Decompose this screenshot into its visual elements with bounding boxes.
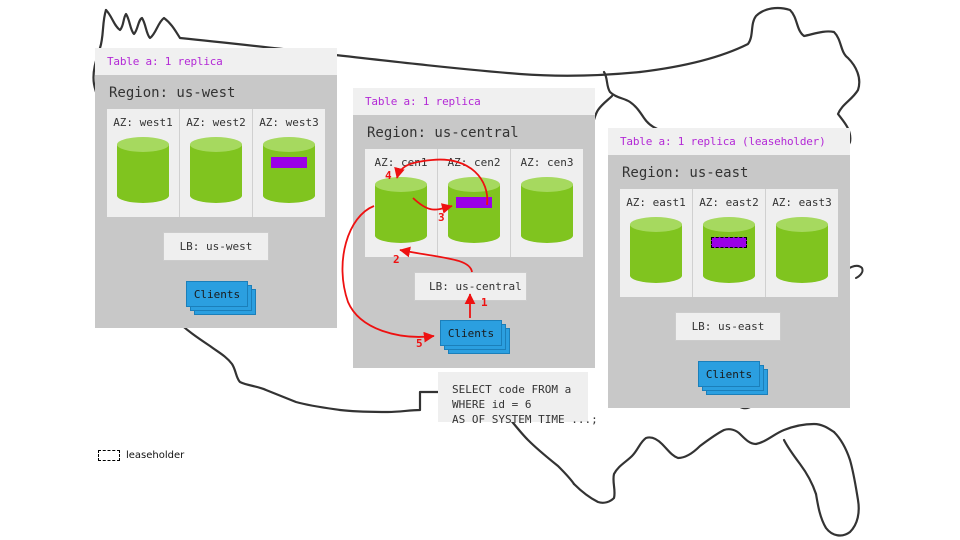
- node-cylinder-east1[interactable]: [630, 217, 682, 283]
- cylinder-top: [263, 137, 315, 152]
- load-balancer-us-west[interactable]: LB: us-west: [163, 232, 269, 261]
- cylinder-top: [190, 137, 242, 152]
- cylinder-top: [630, 217, 682, 232]
- region-header-us-west: Table a: 1 replica: [95, 48, 337, 75]
- region-title-us-central: Region: us-central: [353, 115, 595, 149]
- az-east2-label: AZ: east2: [693, 196, 765, 209]
- sql-query-box: SELECT code FROM a WHERE id = 6 AS OF SY…: [438, 372, 588, 422]
- cylinder-top: [117, 137, 169, 152]
- region-title-us-east: Region: us-east: [608, 155, 850, 189]
- node-cylinder-west2[interactable]: [190, 137, 242, 203]
- region-header-us-east: Table a: 1 replica (leaseholder): [608, 128, 850, 155]
- cylinder-top: [703, 217, 755, 232]
- node-cylinder-west3[interactable]: [263, 137, 315, 203]
- clients-us-east[interactable]: Clients: [698, 361, 760, 387]
- az-cen3[interactable]: AZ: cen3: [511, 149, 583, 257]
- az-row-us-west: AZ: west1 AZ: west2 AZ: west3: [107, 109, 325, 217]
- az-cen3-label: AZ: cen3: [511, 156, 583, 169]
- az-west2[interactable]: AZ: west2: [180, 109, 253, 217]
- cylinder-top: [521, 177, 573, 192]
- node-cylinder-cen3[interactable]: [521, 177, 573, 243]
- step-label-4: 4: [385, 169, 392, 182]
- region-title-us-west: Region: us-west: [95, 75, 337, 109]
- clients-us-central[interactable]: Clients: [440, 320, 502, 346]
- az-cen2[interactable]: AZ: cen2: [438, 149, 511, 257]
- clients-label-us-east: Clients: [698, 361, 760, 387]
- node-cylinder-east3[interactable]: [776, 217, 828, 283]
- clients-us-west[interactable]: Clients: [186, 281, 248, 307]
- legend: leaseholder: [98, 450, 184, 461]
- az-west3-label: AZ: west3: [253, 116, 325, 129]
- az-west1-label: AZ: west1: [107, 116, 179, 129]
- node-cylinder-cen1[interactable]: [375, 177, 427, 243]
- load-balancer-us-east[interactable]: LB: us-east: [675, 312, 781, 341]
- az-west2-label: AZ: west2: [180, 116, 252, 129]
- load-balancer-us-central[interactable]: LB: us-central: [414, 272, 527, 301]
- az-cen1[interactable]: AZ: cen1: [365, 149, 438, 257]
- az-east1[interactable]: AZ: east1: [620, 189, 693, 297]
- cylinder-top: [375, 177, 427, 192]
- az-east3-label: AZ: east3: [766, 196, 838, 209]
- az-row-us-east: AZ: east1 AZ: east2 AZ: east3: [620, 189, 838, 297]
- diagram-canvas: Table a: 1 replica Region: us-west AZ: w…: [0, 0, 960, 540]
- cylinder-top: [776, 217, 828, 232]
- replica-block-west3: [271, 157, 307, 168]
- node-cylinder-east2[interactable]: [703, 217, 755, 283]
- clients-label-us-central: Clients: [440, 320, 502, 346]
- step-label-3: 3: [438, 211, 445, 224]
- clients-label-us-west: Clients: [186, 281, 248, 307]
- az-east1-label: AZ: east1: [620, 196, 692, 209]
- az-cen2-label: AZ: cen2: [438, 156, 510, 169]
- az-east3[interactable]: AZ: east3: [766, 189, 838, 297]
- replica-block-east2-leaseholder: [711, 237, 747, 248]
- cylinder-top: [448, 177, 500, 192]
- step-label-5: 5: [416, 337, 423, 350]
- az-east2[interactable]: AZ: east2: [693, 189, 766, 297]
- az-cen1-label: AZ: cen1: [365, 156, 437, 169]
- region-header-us-central: Table a: 1 replica: [353, 88, 595, 115]
- dashed-rect-icon: [98, 450, 120, 461]
- step-label-2: 2: [393, 253, 400, 266]
- step-label-1: 1: [481, 296, 488, 309]
- legend-label: leaseholder: [126, 450, 184, 461]
- az-west3[interactable]: AZ: west3: [253, 109, 325, 217]
- replica-block-cen2: [456, 197, 492, 208]
- az-row-us-central: AZ: cen1 AZ: cen2 AZ: cen3: [365, 149, 583, 257]
- node-cylinder-west1[interactable]: [117, 137, 169, 203]
- az-west1[interactable]: AZ: west1: [107, 109, 180, 217]
- node-cylinder-cen2[interactable]: [448, 177, 500, 243]
